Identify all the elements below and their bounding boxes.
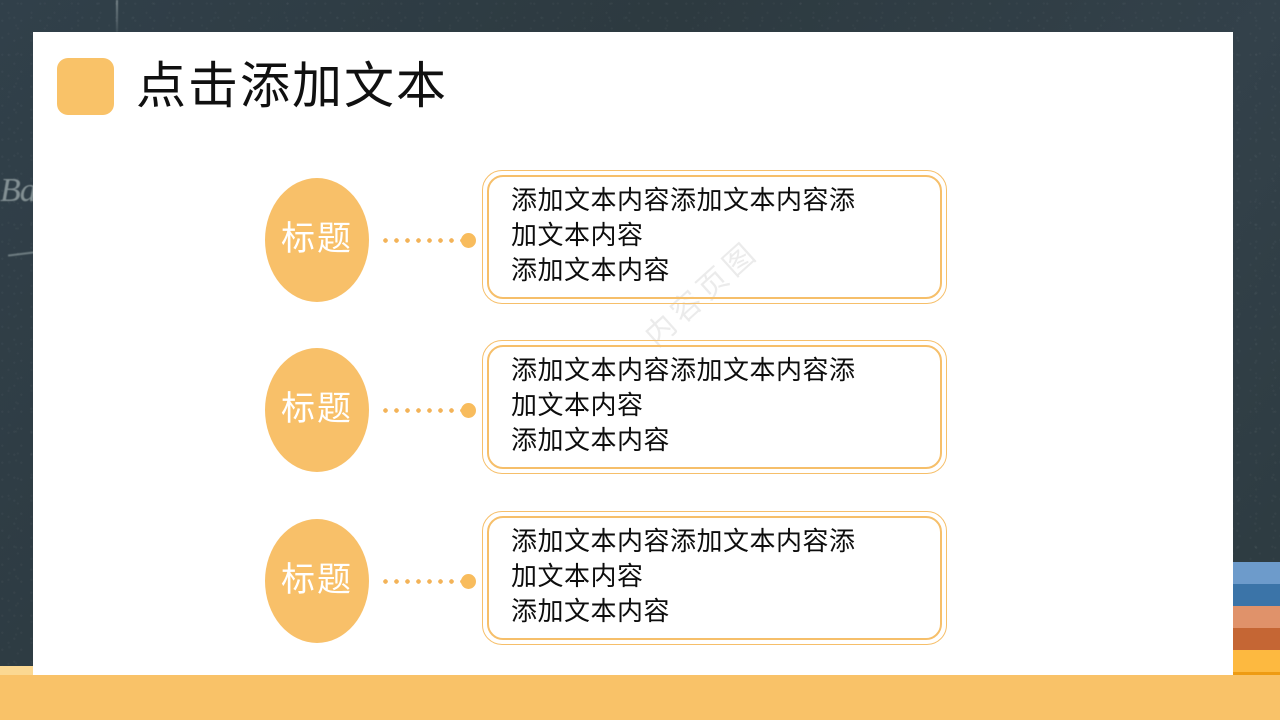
- page-title: 点击添加文本: [136, 58, 448, 114]
- row-text-line: 添加文本内容: [511, 594, 934, 629]
- row-text-line: 添加文本内容添加文本内容添: [511, 183, 934, 218]
- row-connector: [376, 402, 476, 418]
- swatch-dark-blue: [1232, 584, 1280, 606]
- swatch-terracotta: [1232, 628, 1280, 650]
- connector-dot-icon: [461, 233, 476, 248]
- row-bubble-label: 标题: [281, 221, 353, 259]
- row-connector: [376, 232, 476, 248]
- connector-dot-icon: [461, 403, 476, 418]
- swatch-salmon: [1232, 606, 1280, 628]
- bottom-band: [0, 675, 1280, 720]
- dotted-line-icon: [380, 408, 463, 413]
- row-textbox[interactable]: 添加文本内容添加文本内容添 加文本内容 添加文本内容: [482, 511, 947, 645]
- row-textbox-body: 添加文本内容添加文本内容添 加文本内容 添加文本内容: [511, 353, 934, 458]
- row-text-line: 加文本内容: [511, 218, 934, 253]
- row-textbox-body: 添加文本内容添加文本内容添 加文本内容 添加文本内容: [511, 524, 934, 629]
- dotted-line-icon: [380, 238, 463, 243]
- row-text-line: 添加文本内容添加文本内容添: [511, 353, 934, 388]
- slide-canvas: 内容页图 点击添加文本 标题 添加文本内容添加文本内容添 加文本内容 添加文本内…: [33, 32, 1233, 675]
- chalk-vertical-line-icon: [116, 0, 118, 32]
- row-text-line: 添加文本内容: [511, 423, 934, 458]
- row-text-line: 添加文本内容添加文本内容添: [511, 524, 934, 559]
- chalk-tick-mark-icon: [8, 251, 34, 256]
- row-textbox-body: 添加文本内容添加文本内容添 加文本内容 添加文本内容: [511, 183, 934, 288]
- row-connector: [376, 573, 476, 589]
- row-bubble[interactable]: 标题: [265, 178, 369, 302]
- row-bubble[interactable]: 标题: [265, 519, 369, 643]
- row-text-line: 加文本内容: [511, 559, 934, 594]
- row-bubble-label: 标题: [281, 562, 353, 600]
- row-textbox[interactable]: 添加文本内容添加文本内容添 加文本内容 添加文本内容: [482, 170, 947, 304]
- row-text-line: 添加文本内容: [511, 253, 934, 288]
- row-bubble-label: 标题: [281, 391, 353, 429]
- dotted-line-icon: [380, 579, 463, 584]
- row-text-line: 加文本内容: [511, 388, 934, 423]
- content-row: 标题 添加文本内容添加文本内容添 加文本内容 添加文本内容: [33, 511, 1233, 651]
- chalk-letters-mark: Ba: [0, 168, 34, 228]
- content-row: 标题 添加文本内容添加文本内容添 加文本内容 添加文本内容: [33, 170, 1233, 310]
- content-row: 标题 添加文本内容添加文本内容添 加文本内容 添加文本内容: [33, 340, 1233, 480]
- row-bubble[interactable]: 标题: [265, 348, 369, 472]
- title-marker-icon: [57, 58, 114, 115]
- slide-root: Ba 内容页图 点击添加文本 标题: [0, 0, 1280, 720]
- swatch-light-blue: [1232, 562, 1280, 584]
- row-textbox[interactable]: 添加文本内容添加文本内容添 加文本内容 添加文本内容: [482, 340, 947, 474]
- slide-title-row: 点击添加文本: [57, 46, 448, 126]
- swatch-amber: [1232, 650, 1280, 672]
- connector-dot-icon: [461, 574, 476, 589]
